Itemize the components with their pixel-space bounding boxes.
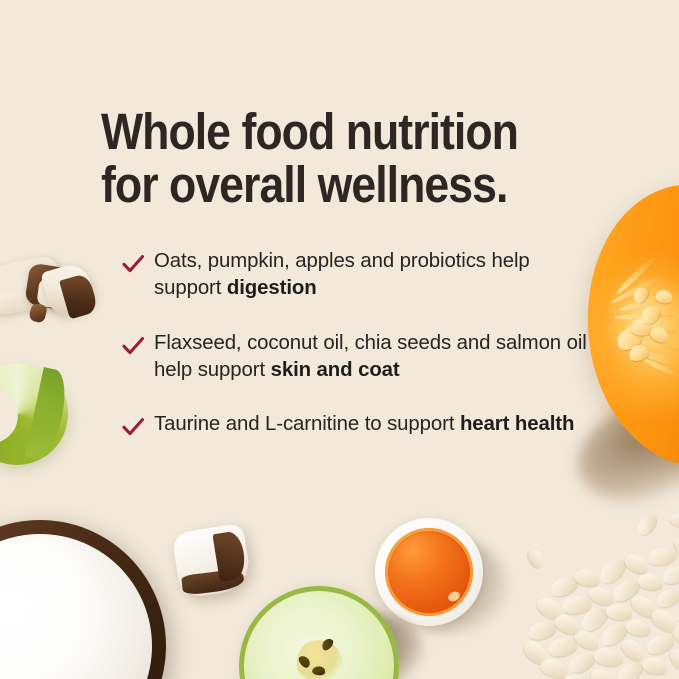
benefits-list: Oats, pumpkin, apples and probiotics hel… [121, 248, 591, 439]
benefit-emphasis: digestion [227, 277, 317, 299]
checkmark-icon [121, 415, 145, 439]
list-item: Flaxseed, coconut oil, chia seeds and sa… [121, 330, 591, 385]
benefit-text: Flaxseed, coconut oil, chia seeds and sa… [154, 330, 591, 385]
benefit-emphasis: heart health [460, 413, 574, 435]
benefit-text: Taurine and L-carnitine to support heart… [154, 411, 574, 438]
benefit-text-body: Taurine and L-carnitine to support [154, 413, 460, 435]
list-item: Oats, pumpkin, apples and probiotics hel… [121, 248, 591, 303]
list-item: Taurine and L-carnitine to support heart… [121, 411, 591, 439]
checkmark-icon [121, 252, 145, 276]
benefit-emphasis: skin and coat [271, 359, 400, 381]
benefit-text: Oats, pumpkin, apples and probiotics hel… [154, 248, 591, 303]
product-benefits-panel: Whole food nutrition for overall wellnes… [0, 0, 679, 679]
page-title: Whole food nutrition for overall wellnes… [101, 106, 539, 212]
benefit-text-body: Oats, pumpkin, apples and probiotics hel… [154, 250, 530, 299]
checkmark-icon [121, 334, 145, 358]
content-layer: Whole food nutrition for overall wellnes… [0, 0, 679, 679]
